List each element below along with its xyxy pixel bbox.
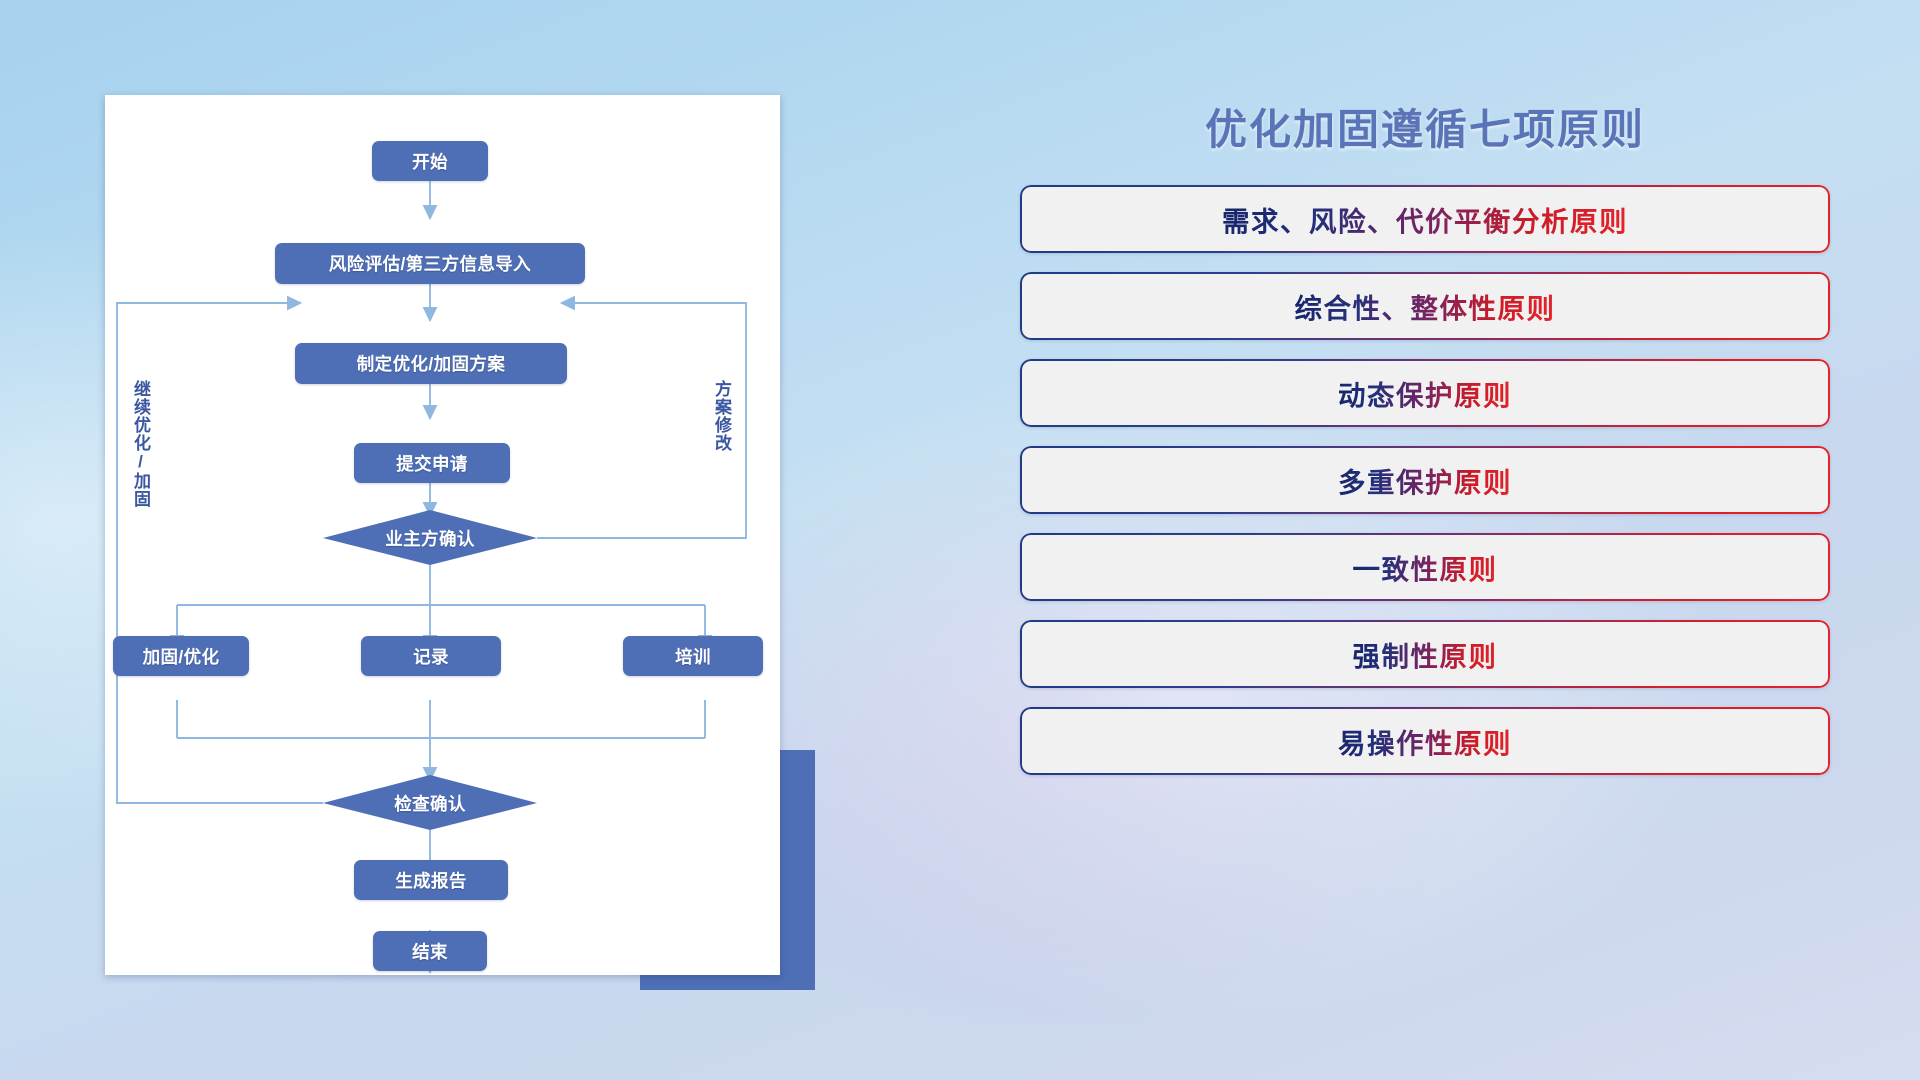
node-training-label: 培训 <box>675 644 711 669</box>
principle-label: 易操作性原则 <box>1338 721 1512 761</box>
node-record-label: 记录 <box>413 644 449 669</box>
node-training[interactable]: 培训 <box>623 636 763 676</box>
diamond-check-confirm <box>323 775 537 830</box>
node-end[interactable]: 结束 <box>373 931 487 971</box>
diamond-owner-confirm <box>323 510 537 565</box>
node-risk-assessment-label: 风险评估/第三方信息导入 <box>329 251 531 276</box>
node-reinforce-optimize-label: 加固/优化 <box>143 644 220 669</box>
node-reinforce-optimize[interactable]: 加固/优化 <box>113 636 249 676</box>
principle-item-7[interactable]: 易操作性原则 <box>1020 707 1830 775</box>
principle-label: 强制性原则 <box>1353 634 1498 674</box>
edge-label-plan-revision: 方案修改 <box>713 380 730 452</box>
slide-canvas: 开始 风险评估/第三方信息导入 制定优化/加固方案 提交申请 业主方确认 加固/… <box>0 0 1920 1080</box>
principle-item-1[interactable]: 需求、风险、代价平衡分析原则 <box>1020 185 1830 253</box>
principle-label: 一致性原则 <box>1353 547 1498 587</box>
node-submit-application-label: 提交申请 <box>396 451 468 476</box>
principle-label: 多重保护原则 <box>1338 460 1512 500</box>
node-record[interactable]: 记录 <box>361 636 501 676</box>
principle-item-6[interactable]: 强制性原则 <box>1020 620 1830 688</box>
flowchart: 开始 风险评估/第三方信息导入 制定优化/加固方案 提交申请 业主方确认 加固/… <box>105 95 780 975</box>
node-generate-report-label: 生成报告 <box>395 868 467 893</box>
flowchart-connectors <box>105 95 780 975</box>
node-generate-report[interactable]: 生成报告 <box>354 860 508 900</box>
node-make-plan[interactable]: 制定优化/加固方案 <box>295 343 567 384</box>
principle-label: 需求、风险、代价平衡分析原则 <box>1222 199 1628 239</box>
edge-label-continue-optimize: 继续优化/加固 <box>132 380 149 508</box>
node-risk-assessment[interactable]: 风险评估/第三方信息导入 <box>275 243 585 284</box>
principles-list: 需求、风险、代价平衡分析原则 综合性、整体性原则 动态保护原则 多重保护原则 一… <box>1020 185 1830 775</box>
node-make-plan-label: 制定优化/加固方案 <box>357 351 505 376</box>
node-start-label: 开始 <box>412 149 448 174</box>
principle-item-2[interactable]: 综合性、整体性原则 <box>1020 272 1830 340</box>
panel-title: 优化加固遵循七项原则 <box>1020 96 1830 157</box>
node-start[interactable]: 开始 <box>372 141 488 181</box>
node-end-label: 结束 <box>412 939 448 964</box>
principle-item-3[interactable]: 动态保护原则 <box>1020 359 1830 427</box>
node-submit-application[interactable]: 提交申请 <box>354 443 510 483</box>
principle-label: 动态保护原则 <box>1338 373 1512 413</box>
principle-item-5[interactable]: 一致性原则 <box>1020 533 1830 601</box>
principle-item-4[interactable]: 多重保护原则 <box>1020 446 1830 514</box>
principle-label: 综合性、整体性原则 <box>1295 286 1556 326</box>
principles-panel: 优化加固遵循七项原则 需求、风险、代价平衡分析原则 综合性、整体性原则 动态保护… <box>1020 96 1830 1016</box>
